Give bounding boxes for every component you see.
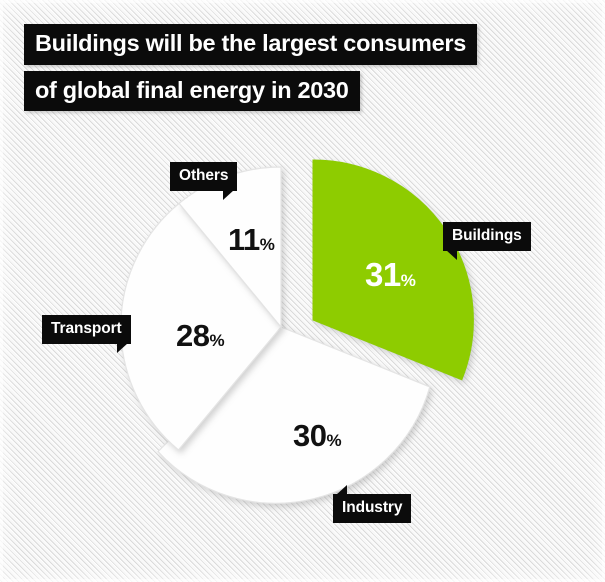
slice-value-others-percent-sign: % (260, 235, 275, 254)
slice-value-industry-number: 30 (293, 418, 326, 453)
slice-value-industry-percent-sign: % (326, 431, 341, 450)
title-line-1: Buildings will be the largest consumers (24, 24, 477, 65)
infographic-canvas: Buildings will be the largest consumers … (0, 0, 605, 582)
page-title: Buildings will be the largest consumers … (24, 24, 477, 111)
callout-pointer-buildings (446, 250, 457, 260)
slice-value-others-number: 11 (228, 222, 260, 257)
callout-label-buildings: Buildings (443, 222, 531, 251)
callout-label-transport-text: Transport (51, 320, 122, 337)
slice-value-others: 11% (228, 224, 275, 255)
slice-value-industry: 30% (293, 420, 342, 451)
title-line-2: of global final energy in 2030 (24, 71, 360, 112)
slice-value-buildings: 31% (365, 258, 416, 291)
callout-label-others: Others (170, 162, 237, 191)
callout-label-industry-text: Industry (342, 499, 402, 516)
callout-pointer-industry (336, 485, 347, 495)
slice-value-transport: 28% (176, 320, 225, 351)
callout-pointer-transport (117, 343, 128, 353)
slice-value-buildings-percent-sign: % (401, 271, 416, 290)
slice-value-buildings-number: 31 (365, 256, 401, 293)
callout-label-others-text: Others (179, 167, 228, 184)
callout-pointer-others (223, 190, 234, 200)
callout-label-buildings-text: Buildings (452, 227, 522, 244)
slice-value-transport-percent-sign: % (209, 331, 224, 350)
callout-label-transport: Transport (42, 315, 131, 344)
slice-value-transport-number: 28 (176, 318, 209, 353)
callout-label-industry: Industry (333, 494, 411, 523)
